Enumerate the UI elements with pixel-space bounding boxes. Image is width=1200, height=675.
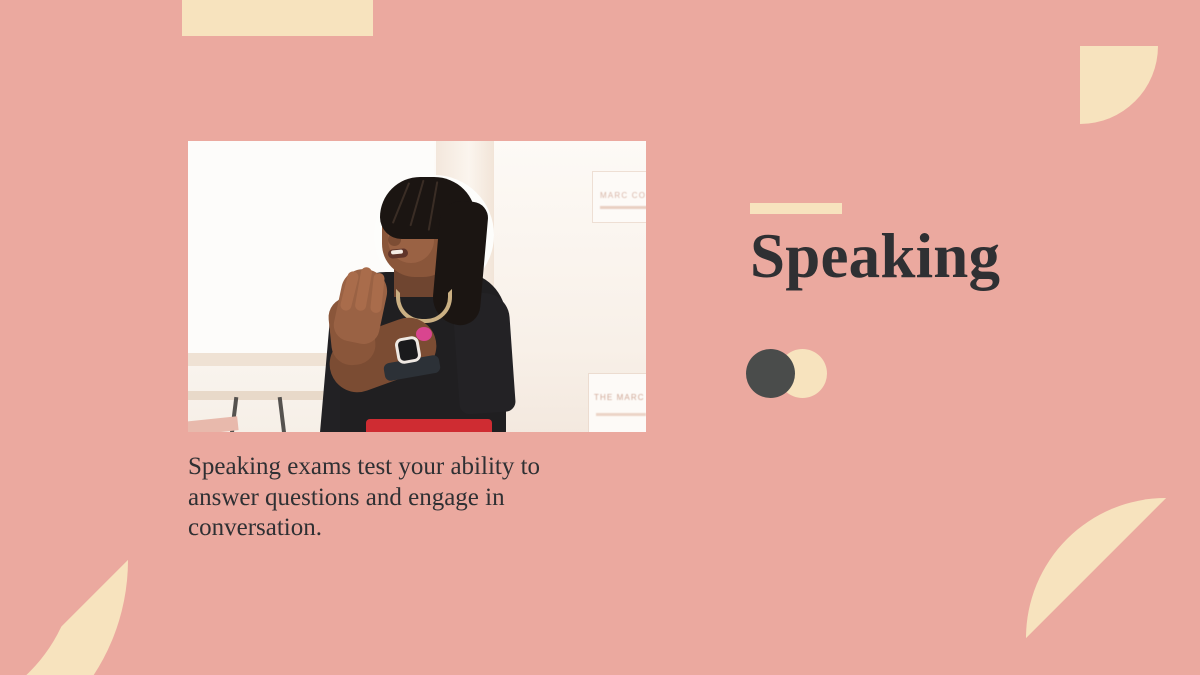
decor-dot-pair <box>746 349 828 399</box>
decor-arc-bottom-left <box>0 560 128 675</box>
decor-dot-dark <box>746 349 795 398</box>
body-paragraph: Speaking exams test your ability to answ… <box>188 452 608 544</box>
decor-rectangle-top-left <box>182 0 373 36</box>
photo-bracelet <box>416 327 432 341</box>
photo-speaker-figure <box>188 141 646 432</box>
page-title: Speaking <box>750 222 1000 290</box>
photo-red-skirt <box>366 419 492 432</box>
photo-scene: MARC COLE THE MARC CO. <box>188 141 646 432</box>
slide-canvas: MARC COLE THE MARC CO. <box>0 0 1200 675</box>
decor-quarter-circle-top-right <box>1080 46 1158 124</box>
decor-arc-bottom-right <box>1026 498 1166 638</box>
title-accent-bar <box>750 203 842 214</box>
photo-smartwatch <box>394 335 422 365</box>
speaker-photo: MARC COLE THE MARC CO. <box>188 141 646 432</box>
